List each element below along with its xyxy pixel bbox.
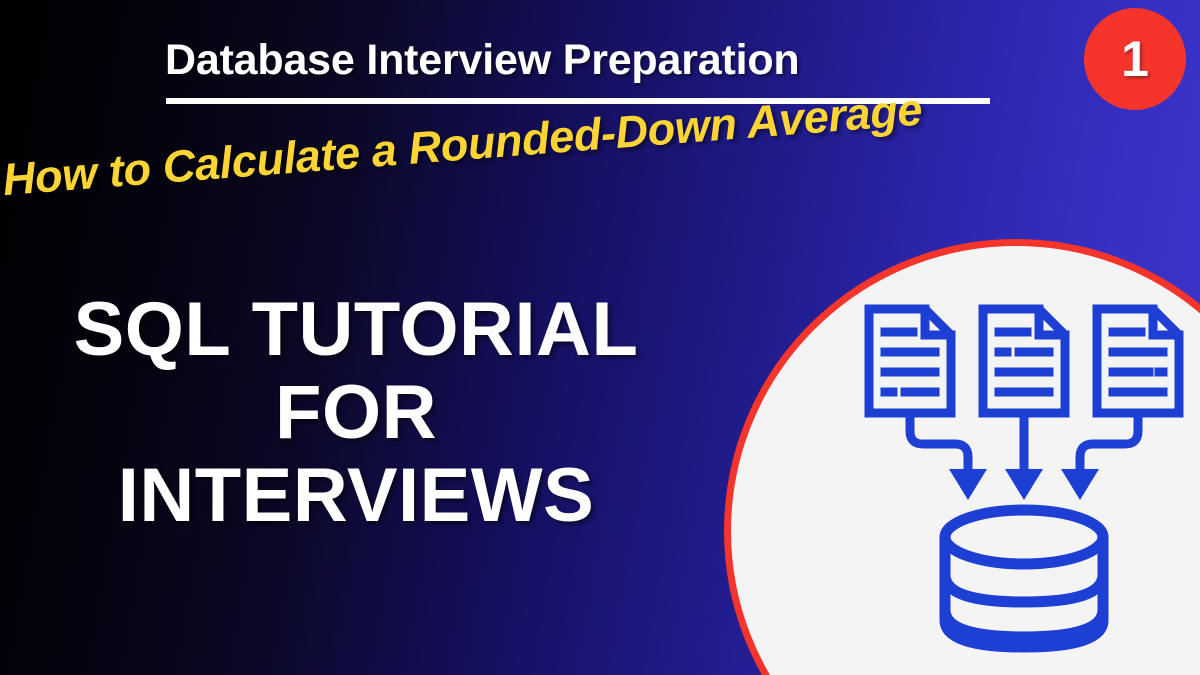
document-icon-1 — [869, 309, 951, 413]
database-cylinder-icon — [945, 510, 1103, 647]
document-icon-3 — [1097, 309, 1179, 413]
document-icon-2 — [983, 309, 1065, 413]
documents-to-database-diagram — [855, 300, 1200, 660]
arrow-right-elbow-down-icon — [1080, 413, 1138, 471]
page-title: Database Interview Preparation — [165, 36, 799, 85]
headline-line-3: INTERVIEWS — [0, 454, 712, 537]
youtube-thumbnail: Database Interview Preparation 1 How to … — [0, 0, 1200, 675]
arrow-left-elbow-down-icon — [910, 413, 968, 471]
headline-line-1: SQL TUTORIAL — [0, 288, 712, 371]
headline-line-2: FOR — [0, 371, 712, 454]
main-headline: SQL TUTORIAL FOR INTERVIEWS — [0, 288, 712, 537]
